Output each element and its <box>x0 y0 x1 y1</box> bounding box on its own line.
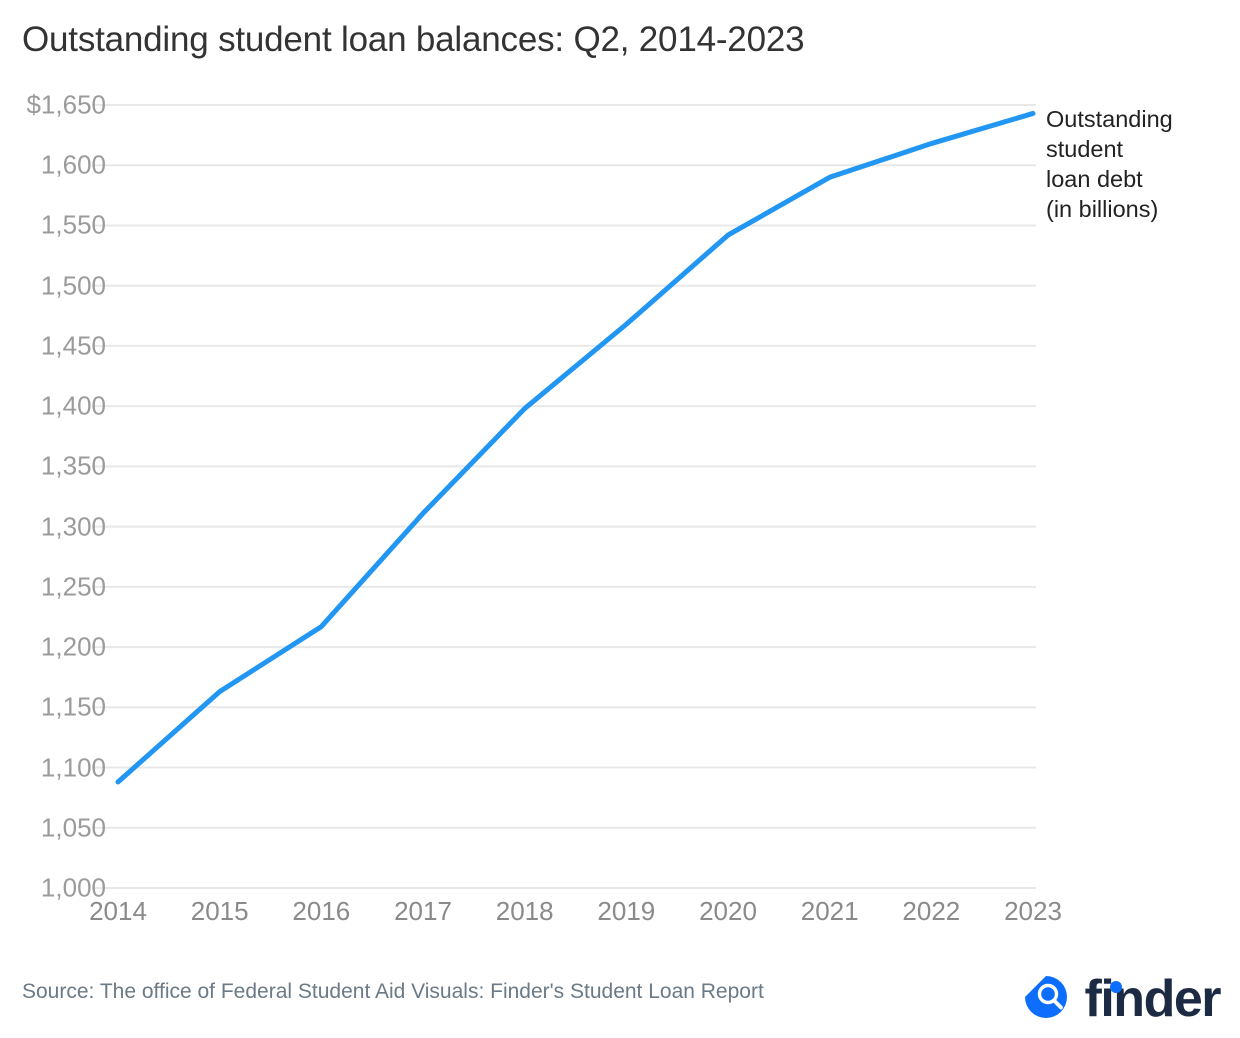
x-tick-label: 2018 <box>496 896 554 927</box>
footer: Source: The office of Federal Student Ai… <box>0 960 1240 1038</box>
y-tick-label: $1,650 <box>26 90 106 121</box>
x-tick-label: 2019 <box>597 896 655 927</box>
y-tick-label: 1,100 <box>41 752 106 783</box>
y-tick-label: 1,550 <box>41 210 106 241</box>
y-tick-label: 1,600 <box>41 150 106 181</box>
finder-wordmark: finder <box>1085 973 1220 1025</box>
magnifier-droplet-icon <box>1021 968 1079 1026</box>
y-tick-label: 1,450 <box>41 330 106 361</box>
x-tick-label: 2016 <box>292 896 350 927</box>
x-tick-label: 2020 <box>699 896 757 927</box>
y-axis: 1,0001,0501,1001,1501,2001,2501,3001,350… <box>0 86 106 906</box>
series-label-line-3: loan debt <box>1046 164 1236 194</box>
finder-logo: finder <box>1021 968 1220 1026</box>
source-note: Source: The office of Federal Student Ai… <box>22 980 764 1004</box>
x-tick-label: 2022 <box>902 896 960 927</box>
x-tick-label: 2023 <box>1004 896 1062 927</box>
y-tick-label: 1,200 <box>41 632 106 663</box>
x-axis: 2014201520162017201820192020202120222023 <box>0 896 1240 936</box>
y-tick-label: 1,350 <box>41 451 106 482</box>
y-tick-label: 1,150 <box>41 692 106 723</box>
y-tick-label: 1,300 <box>41 511 106 542</box>
y-tick-label: 1,250 <box>41 571 106 602</box>
logo-accent-dot-icon <box>1110 981 1122 993</box>
y-tick-label: 1,050 <box>41 812 106 843</box>
gridlines-group <box>108 105 1036 888</box>
series-label-line-4: (in billions) <box>1046 194 1236 224</box>
x-tick-label: 2017 <box>394 896 452 927</box>
x-tick-label: 2014 <box>89 896 147 927</box>
series-label-line-2: student <box>1046 134 1236 164</box>
y-tick-label: 1,400 <box>41 391 106 422</box>
series-label: Outstanding student loan debt (in billio… <box>1046 104 1236 224</box>
chart-page: Outstanding student loan balances: Q2, 2… <box>0 0 1240 1038</box>
page-title: Outstanding student loan balances: Q2, 2… <box>22 20 804 60</box>
y-tick-label: 1,500 <box>41 270 106 301</box>
series-label-line-1: Outstanding <box>1046 104 1236 134</box>
x-tick-label: 2021 <box>801 896 859 927</box>
x-tick-label: 2015 <box>191 896 249 927</box>
series-line-outstanding-student-loan-debt <box>118 113 1033 782</box>
